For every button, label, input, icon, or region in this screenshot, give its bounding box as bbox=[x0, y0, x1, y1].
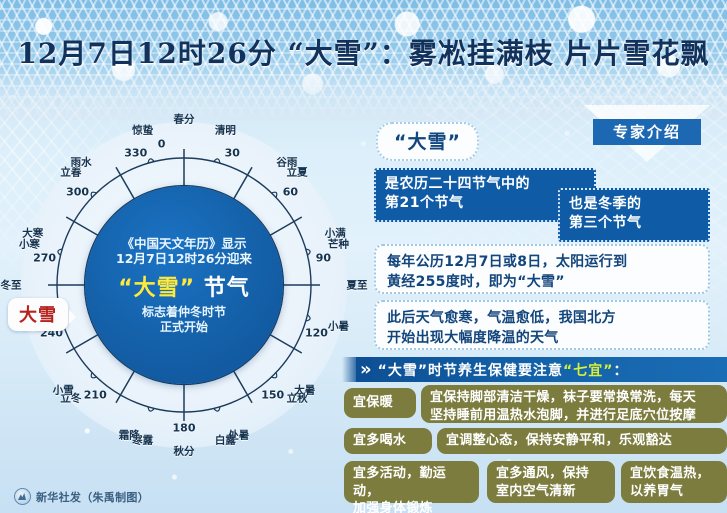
tip-item-7: 宜饮食温热，以养胃气 bbox=[621, 461, 727, 503]
tips-section-banner: » “大雪”时节养生保健要注意“七宜”： bbox=[356, 357, 727, 382]
dial-tick-term-30: 大寒 bbox=[22, 225, 43, 240]
tips-banner-title: “大雪”时节养生保健要注意“七宜”： bbox=[378, 360, 629, 380]
dial-tick-term-33: 雨水 bbox=[71, 155, 92, 170]
dial-tick-value-31: 300 bbox=[66, 186, 89, 199]
page-title: 12月7日12时26分 “大雪”：雾凇挂满枝 片片雪花飘 bbox=[0, 32, 727, 72]
tip-item-2: 宜保持脚部清洁干燥，袜子要常换常洗，每天坚持睡前用温热水泡脚，并进行足底穴位按摩 bbox=[421, 385, 727, 423]
dial-tick-value-1: 0 bbox=[158, 137, 166, 150]
expert-intro-label: 专家介绍 bbox=[593, 119, 701, 145]
dial-tick-value-10: 90 bbox=[316, 251, 331, 264]
credit-line: 新华社发（朱禹制图） bbox=[14, 488, 149, 505]
dial-tick-term-24: 小雪 bbox=[53, 382, 74, 397]
dial-tick-term-0: 春分 bbox=[174, 112, 195, 127]
dial-tick-term-8: 芒种 bbox=[328, 236, 349, 251]
dial-center-term: “大雪” 节气 bbox=[118, 270, 250, 302]
fact-box-cold-weather: 此后天气愈寒，气温愈低，我国北方开始出现大幅度降温的天气 bbox=[374, 300, 710, 350]
dial-tick-term-35: 惊蛰 bbox=[132, 123, 153, 138]
dial-center-panel: 《中国天文年历》显示 12月7日12时26分迎来 “大雪” 节气 标志着仲冬时节… bbox=[85, 186, 283, 384]
dial-tick-term-5: 立夏 bbox=[287, 164, 308, 179]
dial-center-line3: 标志着仲冬时节 bbox=[142, 305, 226, 320]
dial-tick-value-34: 330 bbox=[124, 146, 147, 159]
tip-item-5: 宜多活动，勤运动，加强身体锻炼 bbox=[344, 461, 479, 503]
dial-tick-value-19: 180 bbox=[173, 422, 196, 435]
dial-center-line2: 12月7日12时26分迎来 bbox=[116, 251, 252, 266]
expert-intro-marker: 专家介绍 bbox=[584, 105, 710, 161]
credit-text: 新华社发（朱禹制图） bbox=[36, 489, 149, 505]
daxue-callout-badge: 大雪 bbox=[8, 298, 68, 331]
xinhua-logo-icon bbox=[14, 488, 31, 505]
dial-tick-value-13: 120 bbox=[305, 327, 328, 340]
dial-tick-term-14: 立秋 bbox=[287, 391, 308, 406]
daxue-title-pill: “大雪” bbox=[376, 122, 479, 161]
solar-terms-dial: 《中国天文年历》显示 12月7日12时26分迎来 “大雪” 节气 标志着仲冬时节… bbox=[21, 122, 347, 448]
infographic-canvas: 12月7日12时26分 “大雪”：雾凇挂满枝 片片雪花飘 《中国天文年历》显示 … bbox=[0, 0, 727, 513]
dial-tick-value-16: 150 bbox=[261, 388, 284, 401]
tip-item-6: 宜多通风，保持室内空气清新 bbox=[487, 461, 615, 503]
dial-tick-term-21: 霜降 bbox=[119, 428, 140, 443]
dial-center-line1: 《中国天文年历》显示 bbox=[121, 236, 246, 251]
dial-tick-term-9: 夏至 bbox=[347, 278, 368, 293]
tip-item-4: 宜调整心态，保持安静平和，乐观豁达 bbox=[437, 428, 727, 454]
dial-tick-value-22: 210 bbox=[84, 388, 107, 401]
dial-tick-term-2: 清明 bbox=[215, 123, 236, 138]
fact-box-winter-order: 也是冬季的第三个节气 bbox=[558, 188, 710, 242]
dial-tick-term-27: 冬至 bbox=[1, 278, 22, 293]
tip-item-1: 宜保暖 bbox=[344, 388, 416, 418]
double-chevron-icon: » bbox=[360, 361, 372, 379]
dial-tick-value-7: 60 bbox=[283, 186, 298, 199]
dial-tick-value-28: 270 bbox=[33, 251, 56, 264]
dial-center-line4: 正式开始 bbox=[160, 320, 208, 335]
fact-box-date-longitude: 每年公历12月7日或8日，太阳运行到黄经255度时，即为“大雪” bbox=[374, 244, 710, 294]
dial-tick-term-11: 小暑 bbox=[328, 319, 349, 334]
dial-tick-term-17: 白露 bbox=[215, 432, 236, 447]
dial-tick-term-18: 秋分 bbox=[174, 444, 195, 459]
tip-item-3: 宜多喝水 bbox=[344, 428, 432, 454]
dial-tick-value-4: 30 bbox=[225, 146, 240, 159]
